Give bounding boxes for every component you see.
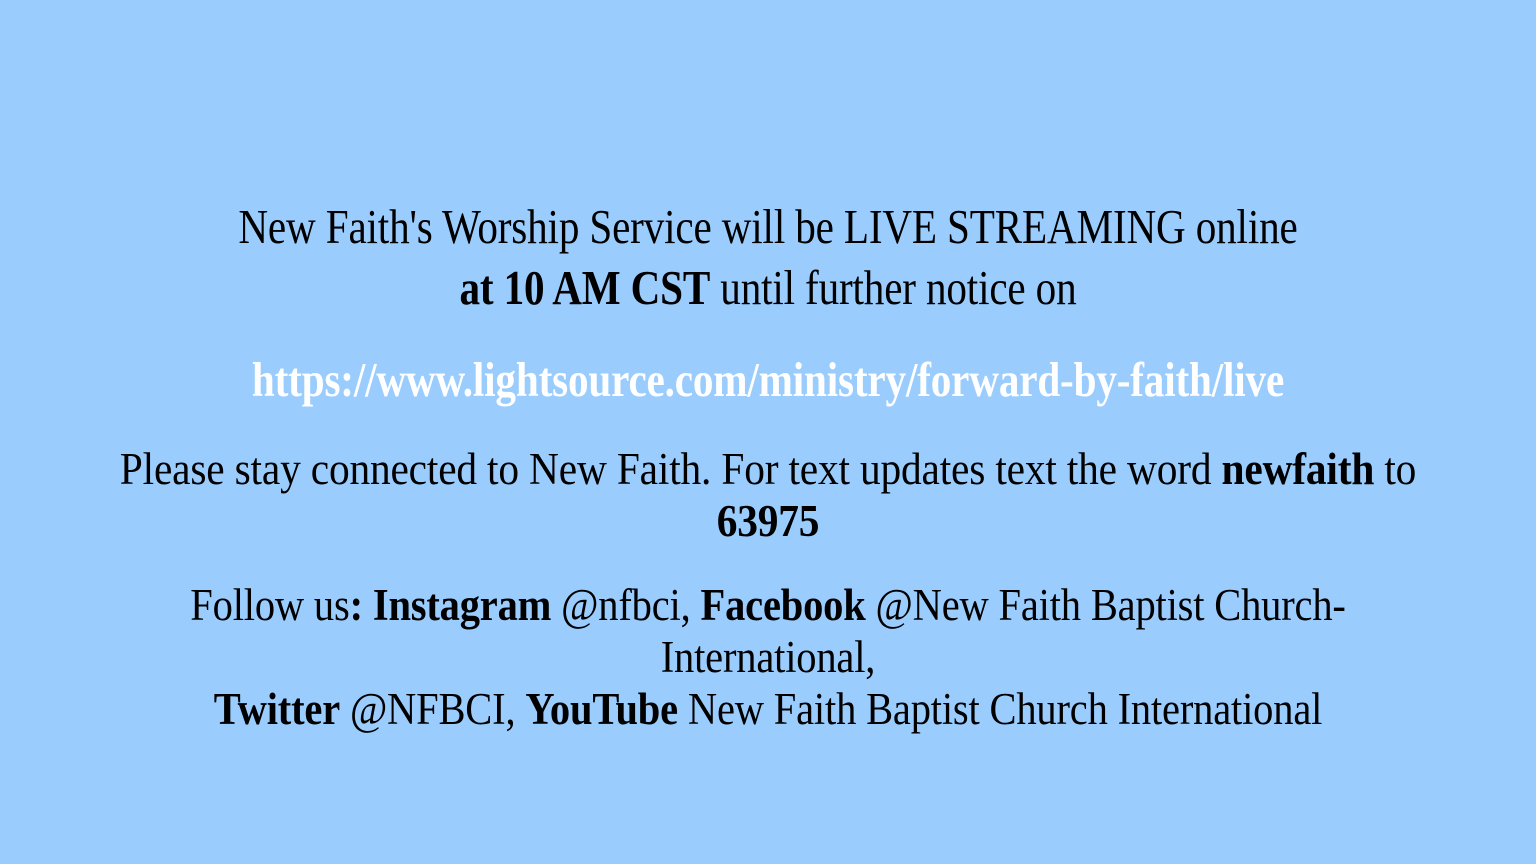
text-updates-middle: to bbox=[1374, 444, 1416, 494]
headline-line-1-text: New Faith's Worship Service will be LIVE… bbox=[238, 199, 1297, 254]
headline-line-2-rest: until further notice on bbox=[710, 260, 1076, 315]
stream-url-line: https://www.lightsource.com/ministry/for… bbox=[138, 352, 1398, 408]
youtube-handle: New Faith Baptist Church International bbox=[678, 684, 1322, 734]
twitter-label: Twitter bbox=[214, 684, 340, 734]
follow-us-colon: : bbox=[350, 580, 363, 630]
service-time-emphasis: at 10 AM CST bbox=[459, 260, 710, 315]
slide-content-stack: New Faith's Worship Service will be LIVE… bbox=[0, 0, 1536, 864]
stream-url-paragraph: https://www.lightsource.com/ministry/for… bbox=[138, 352, 1398, 408]
stream-url-link[interactable]: https://www.lightsource.com/ministry/for… bbox=[252, 352, 1284, 407]
headline-paragraph: New Faith's Worship Service will be LIVE… bbox=[138, 196, 1398, 318]
youtube-label: YouTube bbox=[525, 684, 678, 734]
text-shortcode: 63975 bbox=[717, 496, 820, 546]
follow-us-line-2: Twitter @NFBCI, YouTube New Faith Baptis… bbox=[93, 683, 1443, 735]
announcement-slide: New Faith's Worship Service will be LIVE… bbox=[0, 0, 1536, 864]
text-updates-paragraph: Please stay connected to New Faith. For … bbox=[78, 443, 1458, 547]
follow-us-paragraph: Follow us: Instagram @nfbci, Facebook @N… bbox=[93, 579, 1443, 735]
text-updates-lead: Please stay connected to New Faith. For … bbox=[120, 444, 1222, 494]
instagram-handle: @nfbci, bbox=[551, 580, 690, 630]
instagram-label: Instagram bbox=[373, 580, 551, 630]
text-keyword: newfaith bbox=[1222, 444, 1375, 494]
facebook-label: Facebook bbox=[701, 580, 866, 630]
headline-line-2: at 10 AM CST until further notice on bbox=[138, 257, 1398, 318]
follow-us-line-1: Follow us: Instagram @nfbci, Facebook @N… bbox=[93, 579, 1443, 683]
text-updates-line: Please stay connected to New Faith. For … bbox=[78, 443, 1458, 547]
follow-us-lead: Follow us bbox=[190, 580, 349, 630]
headline-line-1: New Faith's Worship Service will be LIVE… bbox=[138, 196, 1398, 257]
twitter-handle: @NFBCI, bbox=[340, 684, 515, 734]
